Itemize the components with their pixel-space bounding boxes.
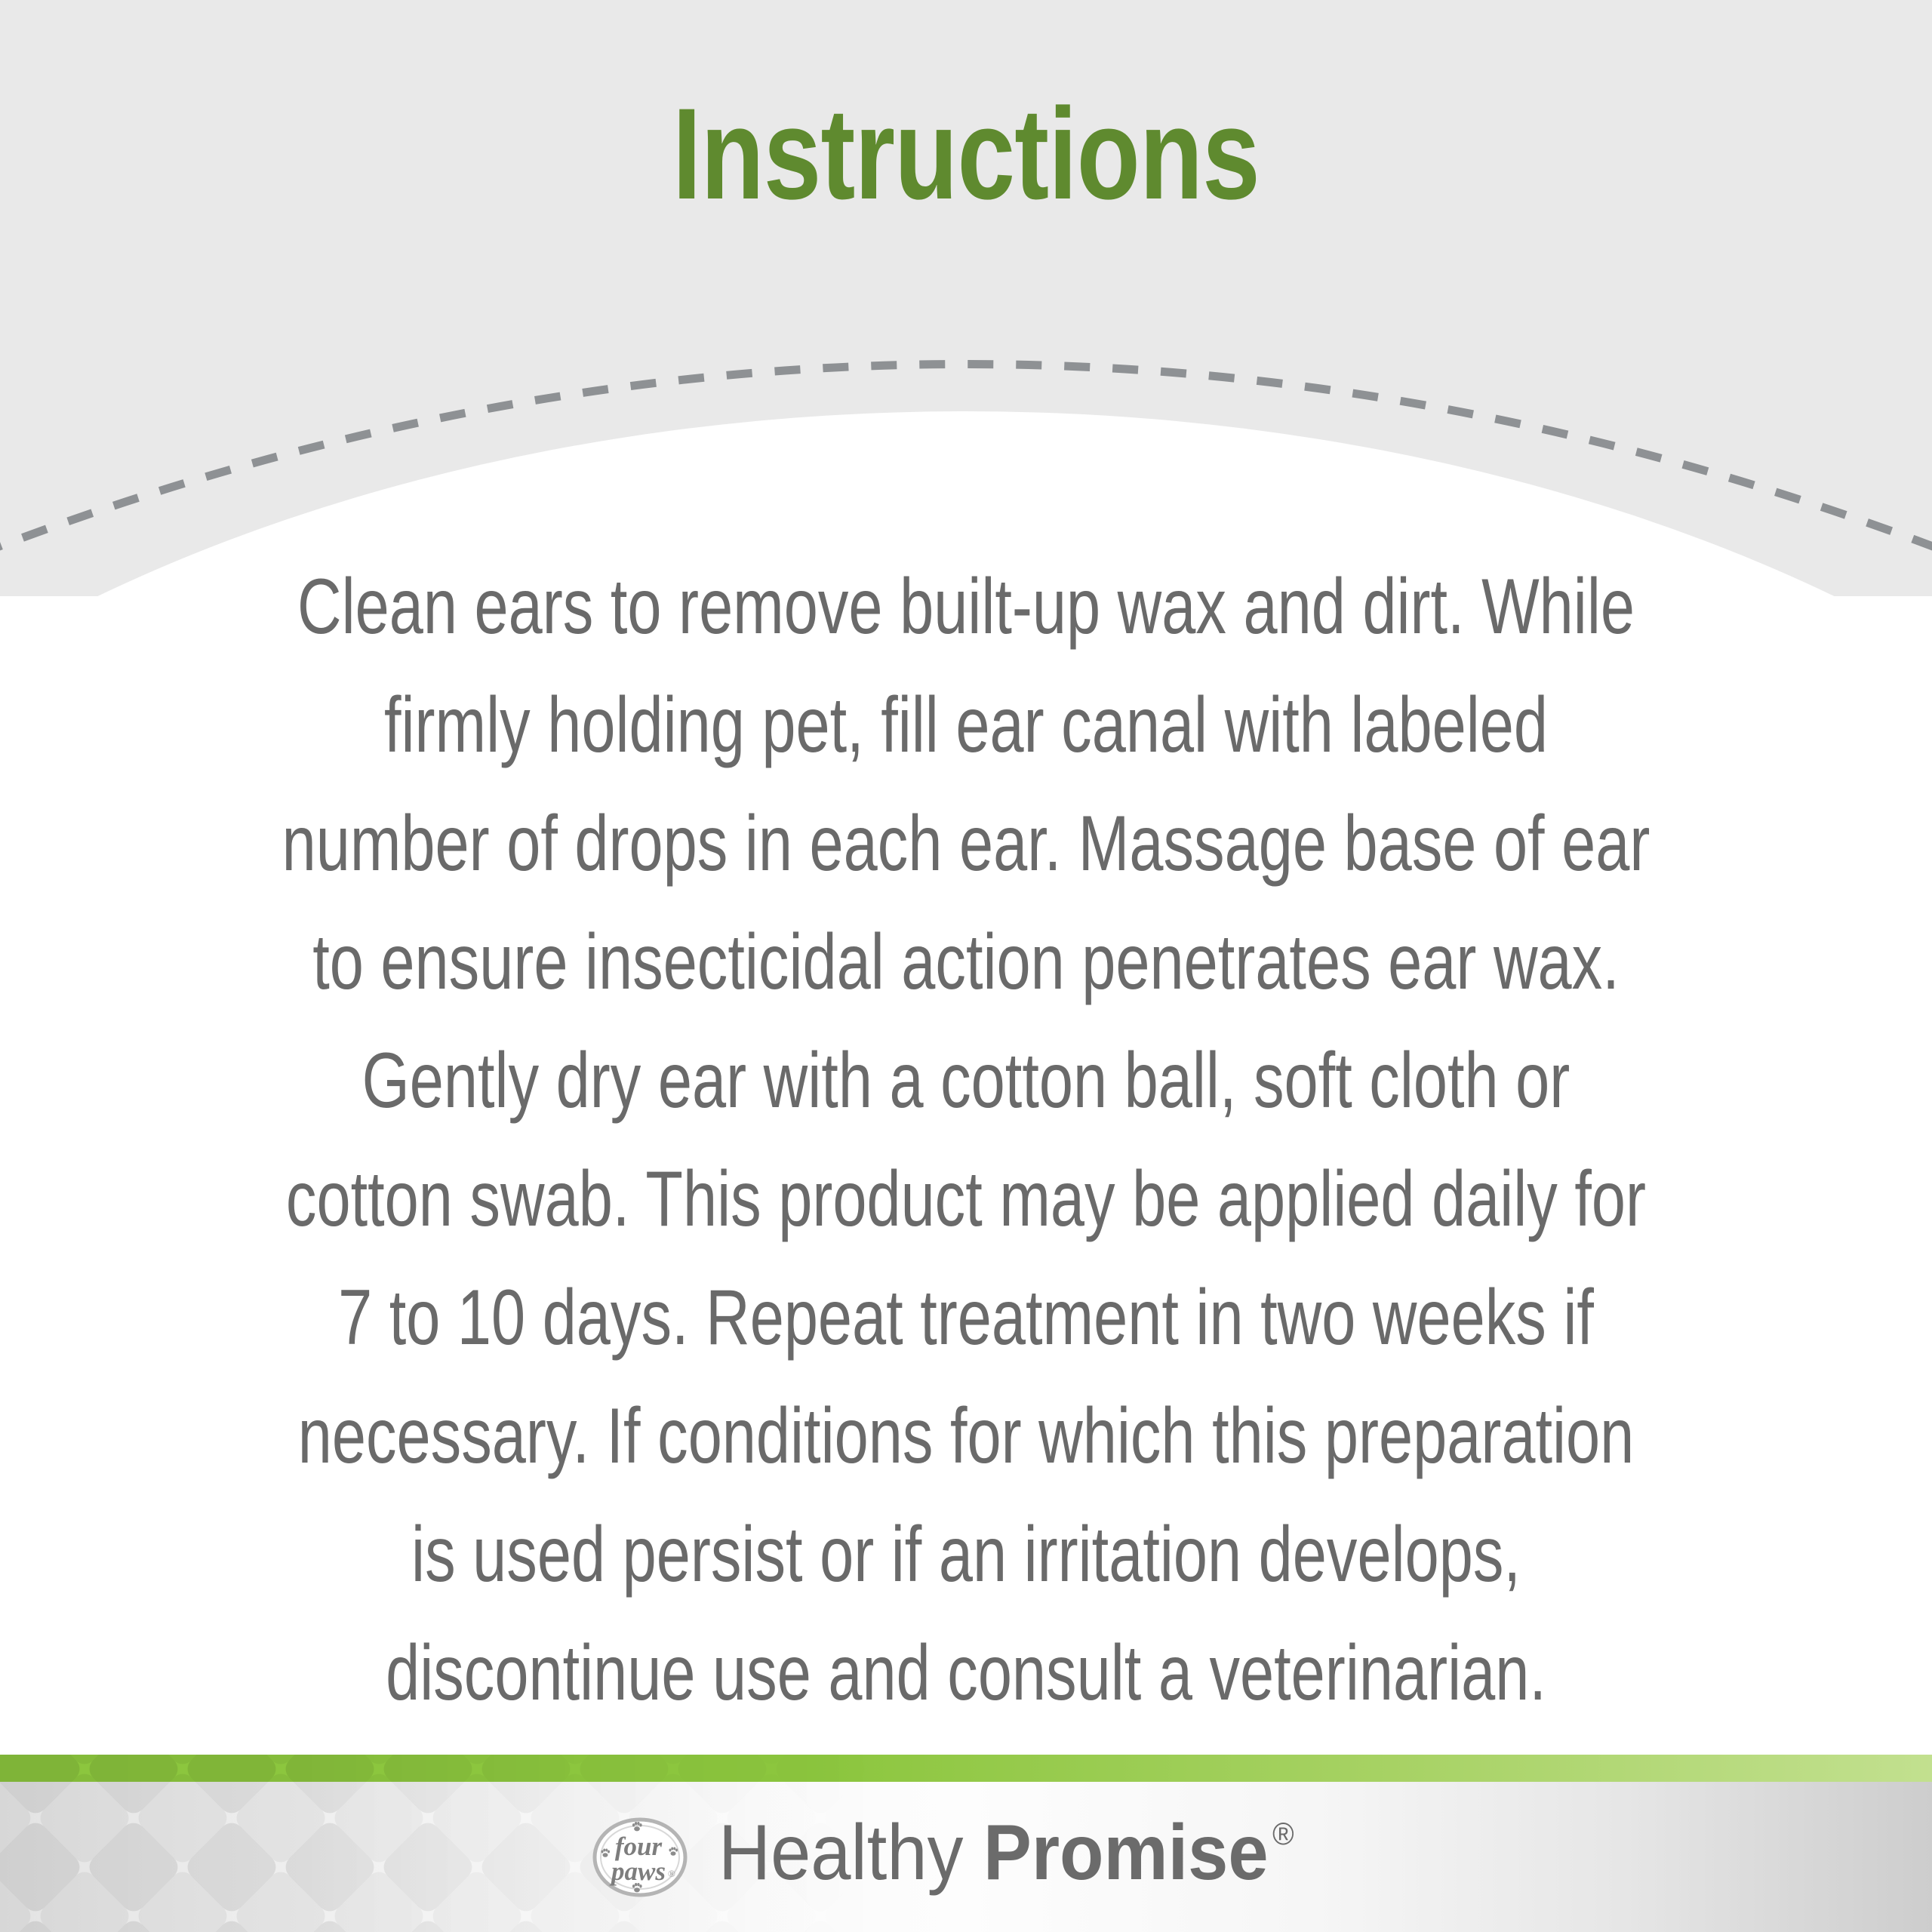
instructions-paragraph: Clean ears to remove built-up wax and di…: [0, 548, 1932, 1733]
instructions-line: Clean ears to remove built-up wax and di…: [213, 548, 1720, 666]
instructions-line: is used persist or if an irritation deve…: [213, 1496, 1720, 1614]
instructions-body: Clean ears to remove built-up wax and di…: [0, 548, 1932, 1710]
instructions-line: 7 to 10 days. Repeat treatment in two we…: [213, 1259, 1720, 1377]
instructions-line: to ensure insecticidal action penetrates…: [213, 903, 1720, 1022]
instructions-line: discontinue use and consult a veterinari…: [213, 1614, 1720, 1733]
instructions-line: necessary. If conditions for which this …: [213, 1377, 1720, 1496]
instructions-line: firmly holding pet, fill ear canal with …: [213, 666, 1720, 785]
brand-lockup: four paws ® Healthy Promise®: [0, 1782, 1932, 1932]
brand-word-promise: Promise: [983, 1809, 1269, 1897]
four-paws-logo-icon: four paws ®: [589, 1814, 691, 1901]
instructions-line: cotton swab. This product may be applied…: [213, 1140, 1720, 1259]
four-paws-logo-registered-mark: ®: [668, 1868, 675, 1879]
brand-registered-mark: ®: [1272, 1816, 1294, 1851]
instructions-line: Gently dry ear with a cotton ball, soft …: [213, 1022, 1720, 1140]
page-title: Instructions: [193, 89, 1739, 219]
healthy-promise-wordmark: Healthy Promise®: [718, 1814, 1294, 1892]
brand-word-healthy: Healthy: [718, 1809, 983, 1897]
four-paws-logo-line2: paws: [609, 1857, 666, 1886]
instructions-line: number of drops in each ear. Massage bas…: [213, 785, 1720, 903]
product-label-panel: Instructions Clean ears to remove built-…: [0, 0, 1932, 1932]
footer-bar: four paws ® Healthy Promise®: [0, 1755, 1932, 1932]
